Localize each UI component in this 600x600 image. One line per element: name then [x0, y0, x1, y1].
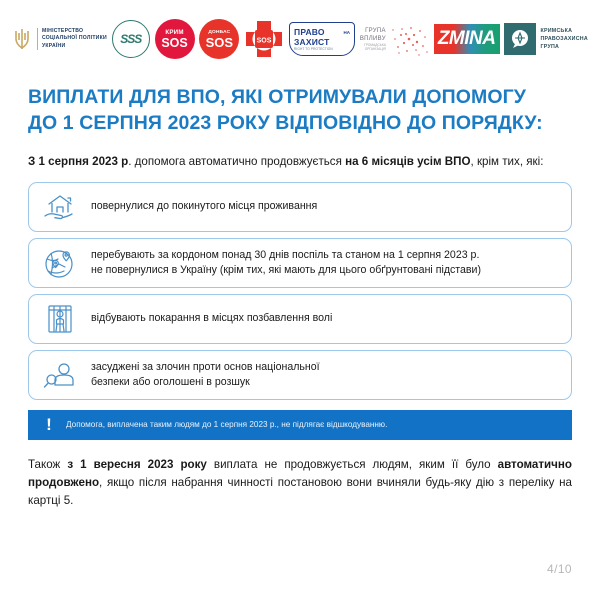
globe-with-pins-icon [39, 244, 81, 282]
logo-zmina: ZMINA [434, 24, 500, 54]
svg-text:SOS: SOS [257, 38, 272, 45]
speech-bubble-icon [504, 23, 536, 55]
note-banner-text: Допомога, виплачена таким людям до 1 сер… [66, 420, 387, 431]
exception-card-text: повернулися до покинутого місця проживан… [91, 199, 317, 214]
logo-grupa-text: ГРУПА ВПЛИВУ ГРОМАДСЬКА ОРГАНІЗАЦІЯ [360, 27, 386, 52]
logo-grupa-line2: ВПЛИВУ [360, 35, 386, 43]
logo-kpg-line2: ПРАВОЗАХИСНА [540, 35, 587, 43]
logo-donbas-sos: ДОНБАС SOS [199, 19, 239, 59]
logo-krym-sos: КРИМ SOS [155, 19, 195, 59]
magnifier-person-icon [39, 356, 81, 394]
lifebuoy-sos-icon: SOS [244, 19, 284, 59]
logo-ministry-line2: СОЦІАЛЬНОЇ ПОЛІТИКИ [42, 35, 107, 43]
prison-bars-icon [39, 300, 81, 338]
exception-card: відбувають покарання в місцях позбавленн… [28, 294, 572, 344]
exclamation-icon: ! [38, 415, 60, 435]
logo-grupa-vplyvu: ГРУПА ВПЛИВУ ГРОМАДСЬКА ОРГАНІЗАЦІЯ [360, 22, 429, 56]
exception-card-line1: засуджені за злочин проти основ націонал… [91, 360, 320, 375]
lead-bold-start: З 1 серпня 2023 р [28, 155, 128, 168]
lead-paragraph: З 1 серпня 2023 р. допомога автоматично … [28, 153, 572, 170]
house-in-hand-icon [39, 188, 81, 226]
page-title: ВИПЛАТИ ДЛЯ ВПО, ЯКІ ОТРИМУВАЛИ ДОПОМОГУ… [28, 84, 572, 137]
logo-ministry-of-social-policy: МІНІСТЕРСТВО СОЦІАЛЬНОЇ ПОЛІТИКИ УКРАЇНИ [12, 25, 107, 53]
exception-card-line2: не повернулися в Україну (крім тих, які … [91, 263, 481, 278]
logo-pravo-na-zakhyst: ПРАВО ЗАХИСТ RIGHT TO PROTECTION НА [289, 22, 355, 56]
footer-p3: , якщо після набрання чинності постаново… [28, 476, 572, 507]
logo-krym-sos-big: SOS [161, 37, 187, 50]
exception-card-text: відбувають покарання в місцях позбавленн… [91, 311, 332, 326]
page-number: 4/10 [547, 562, 572, 576]
logo-pravo-line2: ЗАХИСТ [294, 37, 354, 47]
exception-card-list: повернулися до покинутого місця проживан… [28, 182, 572, 400]
partner-logo-bar: МІНІСТЕРСТВО СОЦІАЛЬНОЇ ПОЛІТИКИ УКРАЇНИ… [0, 0, 600, 72]
logo-lifebuoy-sos: SOS [244, 19, 284, 59]
logo-sss-text: SSS [120, 32, 141, 46]
exception-card-text: перебувають за кордоном понад 30 днів по… [91, 248, 481, 279]
footer-paragraph: Також з 1 вересня 2023 року виплата не п… [28, 456, 572, 510]
lead-tail: , крім тих, які: [471, 155, 544, 168]
logo-grupa-sub2: ОРГАНІЗАЦІЯ [360, 47, 386, 51]
exception-card-line2: безпеки або оголошені в розшук [91, 375, 320, 390]
footer-p1: Також [28, 458, 67, 471]
logo-zmina-text: ZMINA [438, 28, 496, 50]
page-title-line2: ДО 1 СЕРПНЯ 2023 РОКУ ВІДПОВІДНО ДО ПОРЯ… [28, 110, 572, 136]
dots-burst-icon [389, 22, 429, 56]
page-title-line1: ВИПЛАТИ ДЛЯ ВПО, ЯКІ ОТРИМУВАЛИ ДОПОМОГУ [28, 84, 572, 110]
logo-pravo-na: НА [344, 30, 351, 35]
logo-pravo-shield: ПРАВО ЗАХИСТ RIGHT TO PROTECTION НА [289, 22, 355, 56]
logo-pravo-sub: RIGHT TO PROTECTION [294, 47, 354, 51]
logo-grupa-line1: ГРУПА [360, 27, 386, 35]
exception-card: засуджені за злочин проти основ націонал… [28, 350, 572, 400]
exception-card: повернулися до покинутого місця проживан… [28, 182, 572, 232]
lead-bold-mid: на 6 місяців усім ВПО [345, 155, 470, 168]
logo-kpg-text: КРИМСЬКА ПРАВОЗАХИСНА ГРУПА [540, 27, 587, 52]
exception-card-text: засуджені за злочин проти основ націонал… [91, 360, 320, 391]
note-banner: ! Допомога, виплачена таким людям до 1 с… [28, 410, 572, 440]
logo-donbas-sos-big: SOS [206, 36, 233, 49]
lead-mid: . допомога автоматично продовжується [128, 155, 345, 168]
exception-card-line1: перебувають за кордоном понад 30 днів по… [91, 248, 481, 263]
logo-sss: SSS [112, 20, 150, 58]
logo-ministry-line3: УКРАЇНИ [42, 43, 107, 51]
logo-donbas-sos-top: ДОНБАС [208, 30, 230, 35]
logo-kpg-line1: КРИМСЬКА [540, 27, 587, 35]
logo-krymska-pravozakhysna-grupa: КРИМСЬКА ПРАВОЗАХИСНА ГРУПА [504, 23, 587, 55]
footer-p2: виплата не продовжується людям, яким її … [207, 458, 498, 471]
logo-ministry-text: МІНІСТЕРСТВО СОЦІАЛЬНОЇ ПОЛІТИКИ УКРАЇНИ [37, 28, 107, 51]
footer-b1: з 1 вересня 2023 року [67, 458, 207, 471]
exception-card: перебувають за кордоном понад 30 днів по… [28, 238, 572, 288]
logo-krym-sos-top: КРИМ [165, 29, 183, 36]
tryzub-icon [12, 25, 32, 53]
logo-kpg-line3: ГРУПА [540, 43, 587, 51]
